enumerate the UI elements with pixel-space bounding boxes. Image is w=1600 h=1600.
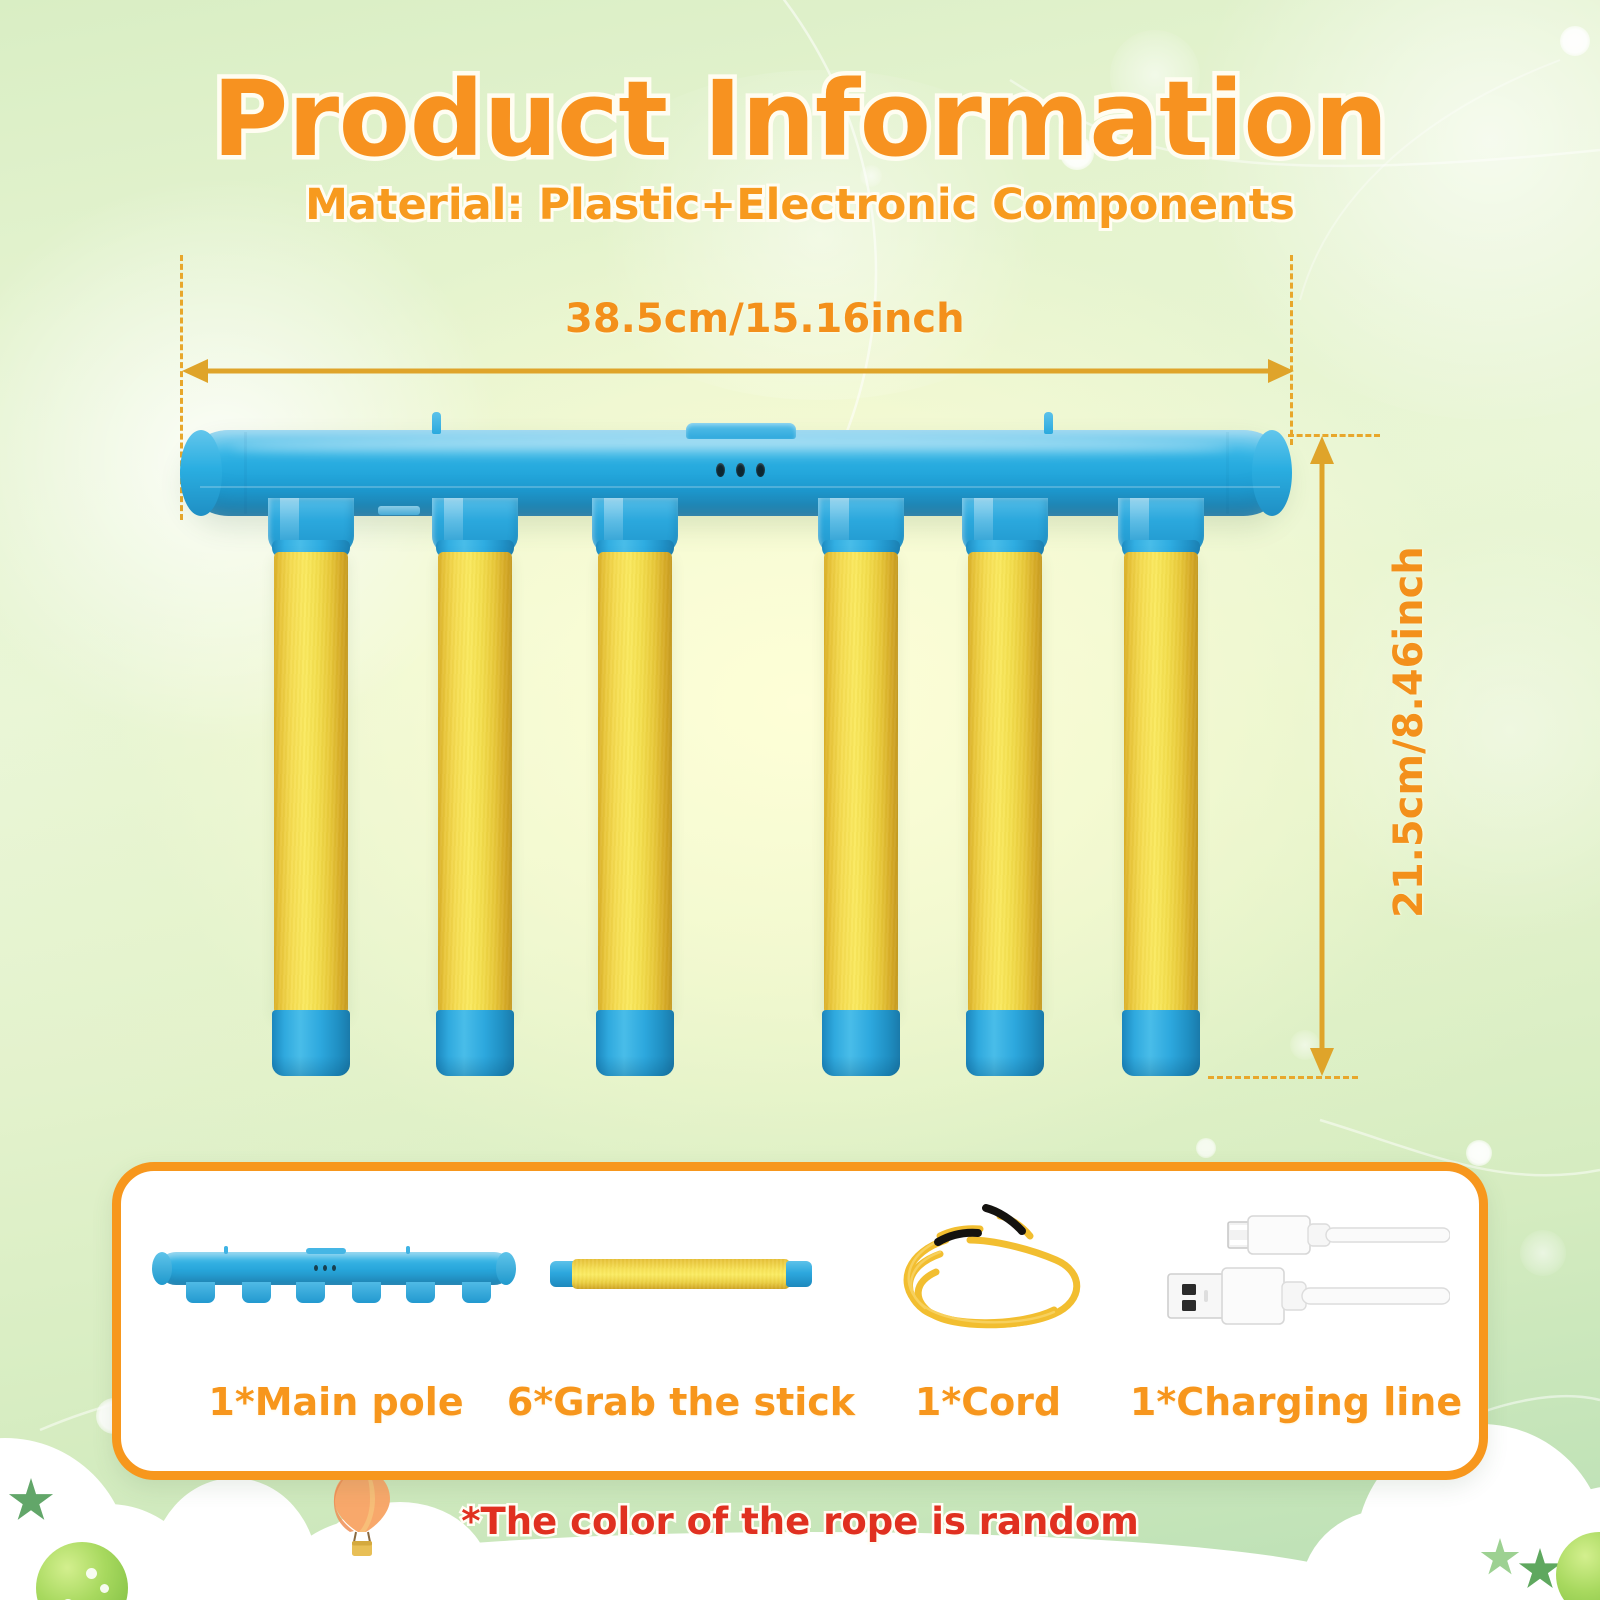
part-label-cord: 1*Cord (860, 1380, 1116, 1424)
stick-end-cap (436, 1010, 514, 1076)
main-pole-end-right (1252, 430, 1292, 516)
charging-line-art (1160, 1204, 1450, 1328)
led-dot-icon (756, 463, 765, 477)
main-pole-top-nub-left (432, 412, 441, 434)
part-label-main-pole: 1*Main pole (146, 1380, 526, 1424)
main-pole-seam (244, 432, 247, 514)
grab-stick (1124, 552, 1198, 1014)
led-dot-icon (314, 1265, 318, 1271)
grab-stick (968, 552, 1042, 1014)
power-button-pad (686, 423, 796, 439)
led-dot-icon (323, 1265, 327, 1271)
led-dot-icon (332, 1265, 336, 1271)
infographic-canvas: Product Information Material: Plastic+El… (0, 0, 1600, 1600)
product-hero-image (0, 0, 1600, 1120)
grab-stick (824, 552, 898, 1014)
cord-art (888, 1196, 1094, 1338)
main-pole-seam (1226, 432, 1229, 514)
stick-end-cap (596, 1010, 674, 1076)
main-pole-ridge (200, 486, 1280, 488)
main-pole-vent (378, 506, 420, 515)
grab-stick-art (550, 1256, 812, 1292)
part-label-charging-line: 1*Charging line (1110, 1380, 1482, 1424)
stick-end-cap (822, 1010, 900, 1076)
main-pole-top-nub-right (1044, 412, 1053, 434)
stick-end-cap (272, 1010, 350, 1076)
grab-stick (438, 552, 512, 1014)
led-dot-icon (736, 463, 745, 477)
main-pole-art (150, 1244, 520, 1310)
grab-stick (598, 552, 672, 1014)
stick-end-cap (966, 1010, 1044, 1076)
main-pole-end-left (180, 430, 222, 516)
main-pole-highlight (230, 438, 1230, 458)
part-label-grab-stick: 6*Grab the stick (490, 1380, 872, 1424)
grab-stick (274, 552, 348, 1014)
led-dot-icon (716, 463, 725, 477)
footer-disclaimer: *The color of the rope is random (0, 1500, 1600, 1543)
led-indicator-group (716, 463, 765, 477)
stick-end-cap (1122, 1010, 1200, 1076)
